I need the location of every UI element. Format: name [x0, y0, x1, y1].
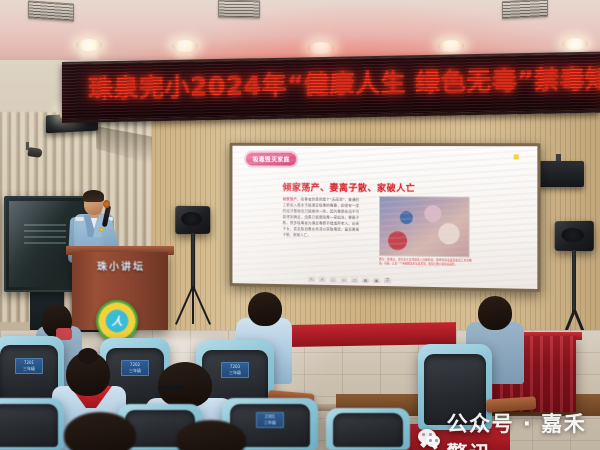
air-vent-grille — [28, 0, 74, 21]
seat-sub: 三年级 — [23, 366, 35, 371]
speaker-stand-pole-right — [572, 250, 576, 314]
wechat-logo-icon — [418, 427, 440, 449]
seat-number-plate: 7201 三年级 — [15, 358, 43, 374]
photo-scene: 珠泉完小2024年“健康人生 绿色无毒”禁毒知 吸毒毁灭家庭 倾家荡产、妻离子散… — [0, 0, 600, 450]
school-emblem: 人 — [96, 300, 138, 342]
air-vent-grille — [218, 0, 260, 18]
led-scanlines — [62, 54, 600, 120]
student-head — [248, 292, 282, 326]
projection-screen: 吸毒毁灭家庭 倾家荡产、妻离子散、家破人亡 倾家荡产，吸毒者的费用是个“无底洞”… — [230, 143, 541, 292]
watermark: 公众号 · 嘉禾警讯 — [418, 408, 600, 450]
microphone-head-icon — [103, 200, 110, 208]
auditorium-seat[interactable] — [326, 408, 410, 450]
pa-speaker-right — [555, 221, 594, 251]
screen-glare — [232, 146, 427, 289]
seat-number-plate: 7203 三年级 — [221, 362, 249, 378]
student-head — [478, 296, 512, 330]
eyeglasses-icon — [158, 386, 184, 392]
seat-code: 7203 — [230, 364, 240, 369]
pa-speaker-left — [175, 206, 210, 234]
wall-mounted-display — [538, 161, 584, 187]
presentation-slide: 吸毒毁灭家庭 倾家荡产、妻离子散、家破人亡 倾家荡产，吸毒者的费用是个“无底洞”… — [232, 146, 537, 289]
air-vent-grille — [502, 0, 548, 19]
seat-sub: 三年级 — [229, 370, 241, 375]
seat-number-plate: 2301 三年级 — [256, 412, 284, 428]
seat-code: 7201 — [24, 360, 34, 365]
seat-code: 7202 — [130, 362, 140, 367]
student-head — [64, 412, 136, 450]
cctv-camera-icon — [27, 147, 42, 158]
seat-code: 2301 — [265, 414, 275, 419]
hair-bun — [78, 348, 98, 364]
led-banner: 珠泉完小2024年“健康人生 绿色无毒”禁毒知 — [62, 52, 600, 123]
speaker-hair — [83, 190, 104, 202]
auditorium-seat[interactable] — [0, 398, 64, 450]
watermark-text: 公众号 · 嘉禾警讯 — [447, 408, 600, 450]
emblem-figure-icon: 人 — [112, 313, 123, 329]
podium-front-text: 珠小讲坛 — [86, 258, 156, 273]
speaker-stand-pole-left — [191, 233, 195, 289]
seat-number-plate: 7202 三年级 — [121, 360, 149, 376]
seat-sub: 三年级 — [129, 368, 141, 373]
student-head — [158, 362, 212, 408]
seat-sub: 三年级 — [264, 420, 276, 425]
speaker-stand-leg — [192, 286, 194, 324]
epaulet-left — [75, 217, 84, 221]
